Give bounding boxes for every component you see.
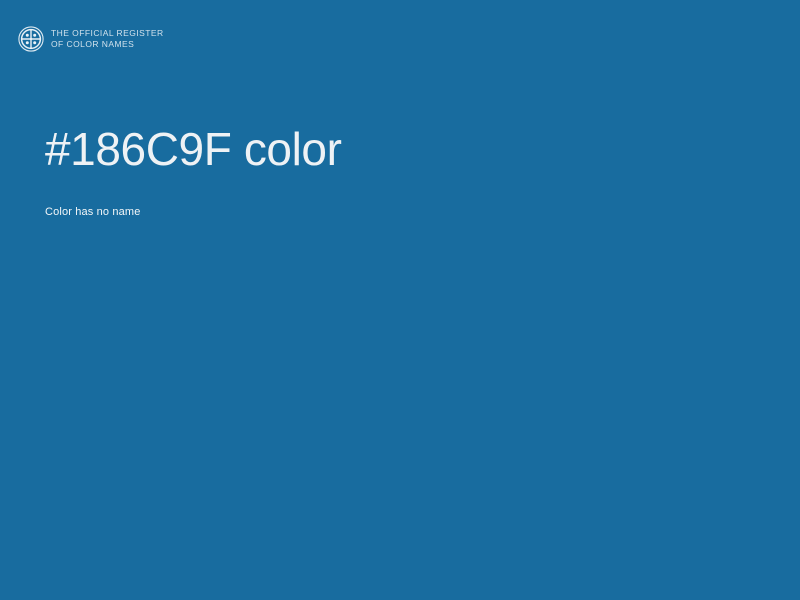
brand-line-1: THE OFFICIAL REGISTER bbox=[51, 28, 164, 39]
color-name-status: Color has no name bbox=[45, 176, 755, 220]
main-content: #186C9F color Color has no name bbox=[45, 122, 755, 220]
brand-text: THE OFFICIAL REGISTER OF COLOR NAMES bbox=[51, 28, 164, 50]
brand-lockup[interactable]: THE OFFICIAL REGISTER OF COLOR NAMES bbox=[18, 26, 164, 52]
page-title: #186C9F color bbox=[45, 122, 755, 176]
color-page: THE OFFICIAL REGISTER OF COLOR NAMES #18… bbox=[0, 0, 800, 600]
register-seal-icon bbox=[18, 26, 44, 52]
brand-line-2: OF COLOR NAMES bbox=[51, 39, 164, 50]
